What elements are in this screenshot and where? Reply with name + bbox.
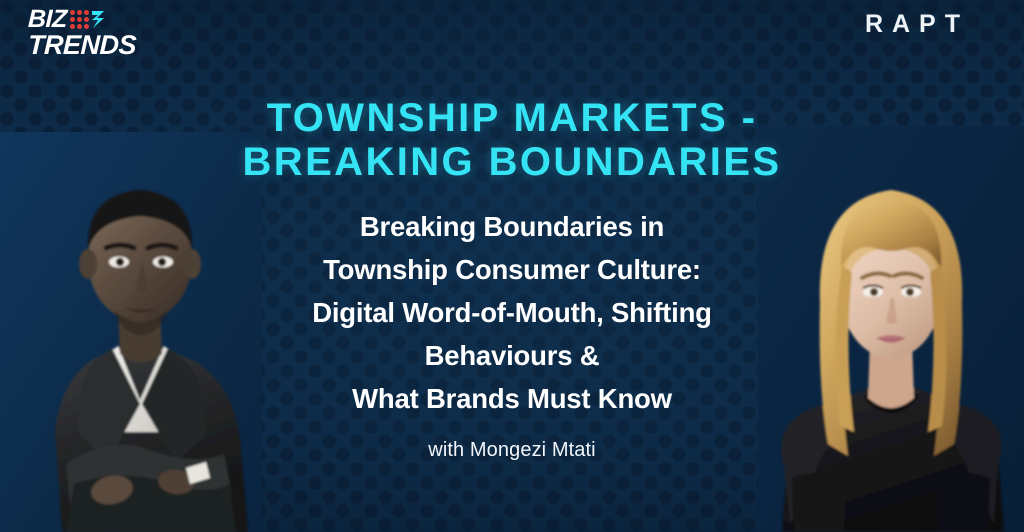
rapt-logo[interactable]: RAPT <box>865 12 969 37</box>
speaker-photo-left <box>0 132 262 532</box>
banner-header: BIZ TRENDS RAPT <box>0 0 1024 62</box>
biztrends-logo[interactable]: BIZ TRENDS <box>28 7 188 59</box>
man-with-arms-crossed-photo <box>0 132 262 532</box>
speaker-photo-right <box>758 126 1024 532</box>
biztrends-logo-top-row: BIZ <box>28 7 188 31</box>
lightning-arrow-icon <box>91 9 106 29</box>
woman-with-blonde-hair-photo <box>758 126 1024 532</box>
biztrends-logo-trends-text: TRENDS <box>28 32 189 59</box>
dot-grid-icon <box>70 10 89 29</box>
biztrends-logo-biz-text: BIZ <box>28 7 68 31</box>
banner-stage: BIZ TRENDS RAPT TOWNSHIP MARKETS - BREAK… <box>0 0 1024 532</box>
